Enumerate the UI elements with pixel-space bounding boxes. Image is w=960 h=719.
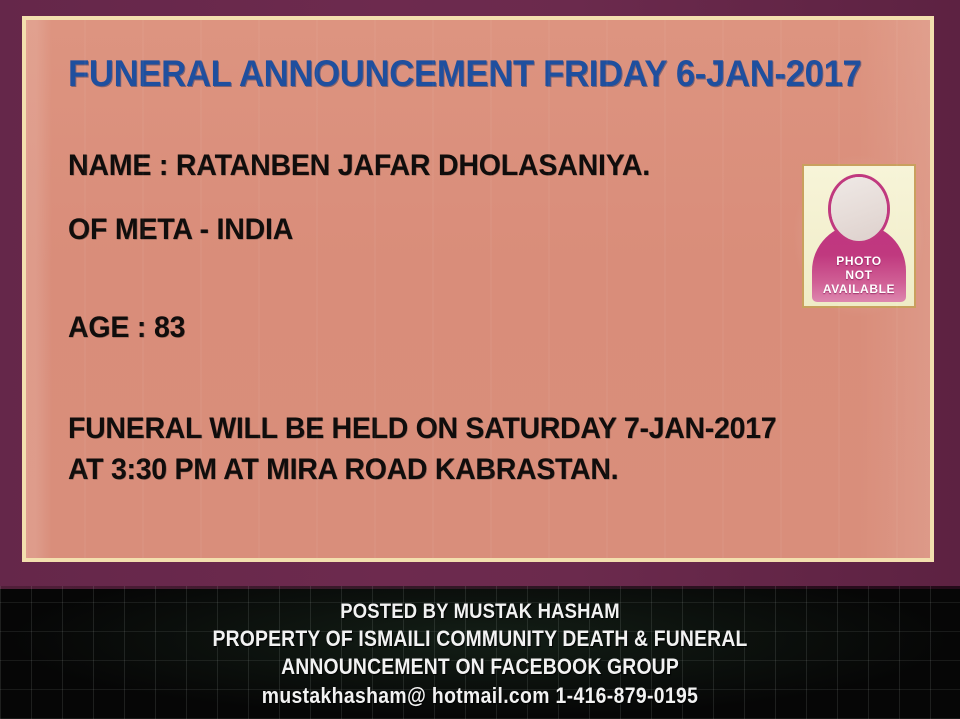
footer-contact-line: mustakhasham@ hotmail.com 1-416-879-0195 [58, 681, 903, 711]
name-line: NAME : RATANBEN JAFAR DHOLASANIYA. [68, 148, 762, 184]
footer-top-edge [0, 586, 960, 589]
photo-frame: PHOTO NOT AVAILABLE [802, 164, 916, 308]
announcement-card-surface: FUNERAL ANNOUNCEMENT FRIDAY 6-JAN-2017 N… [26, 20, 930, 558]
photo-not-available-text: PHOTO NOT AVAILABLE [804, 254, 914, 296]
person-head-icon [831, 177, 887, 241]
spacer-after-place [68, 248, 798, 310]
place-line: OF META - INDIA [68, 212, 762, 248]
footer-property-line: PROPERTY OF ISMAILI COMMUNITY DEATH & FU… [58, 625, 903, 653]
funeral-detail-line-1: FUNERAL WILL BE HELD ON SATURDAY 7-JAN-2… [68, 408, 762, 449]
funeral-detail-line-2: AT 3:30 PM AT MIRA ROAD KABRASTAN. [68, 449, 762, 490]
photo-text-line-3: AVAILABLE [804, 282, 914, 296]
deceased-details-block: NAME : RATANBEN JAFAR DHOLASANIYA. OF ME… [68, 148, 798, 490]
funeral-announcement-poster: FUNERAL ANNOUNCEMENT FRIDAY 6-JAN-2017 N… [0, 0, 960, 719]
photo-placeholder: PHOTO NOT AVAILABLE [794, 156, 924, 316]
page-title: FUNERAL ANNOUNCEMENT FRIDAY 6-JAN-2017 [68, 52, 858, 96]
photo-text-line-2: NOT [804, 268, 914, 282]
poster-outer-frame: FUNERAL ANNOUNCEMENT FRIDAY 6-JAN-2017 N… [0, 0, 960, 586]
footer-text-block: POSTED BY MUSTAK HASHAM PROPERTY OF ISMA… [0, 598, 960, 711]
announcement-card: FUNERAL ANNOUNCEMENT FRIDAY 6-JAN-2017 N… [22, 16, 934, 562]
age-line: AGE : 83 [68, 310, 762, 346]
spacer-after-age [68, 346, 798, 408]
footer-posted-by: POSTED BY MUSTAK HASHAM [58, 598, 903, 625]
photo-text-line-1: PHOTO [804, 254, 914, 268]
spacer-after-name [68, 184, 798, 212]
footer-banner: POSTED BY MUSTAK HASHAM PROPERTY OF ISMA… [0, 586, 960, 719]
footer-group-line: ANNOUNCEMENT ON FACEBOOK GROUP [58, 653, 903, 681]
